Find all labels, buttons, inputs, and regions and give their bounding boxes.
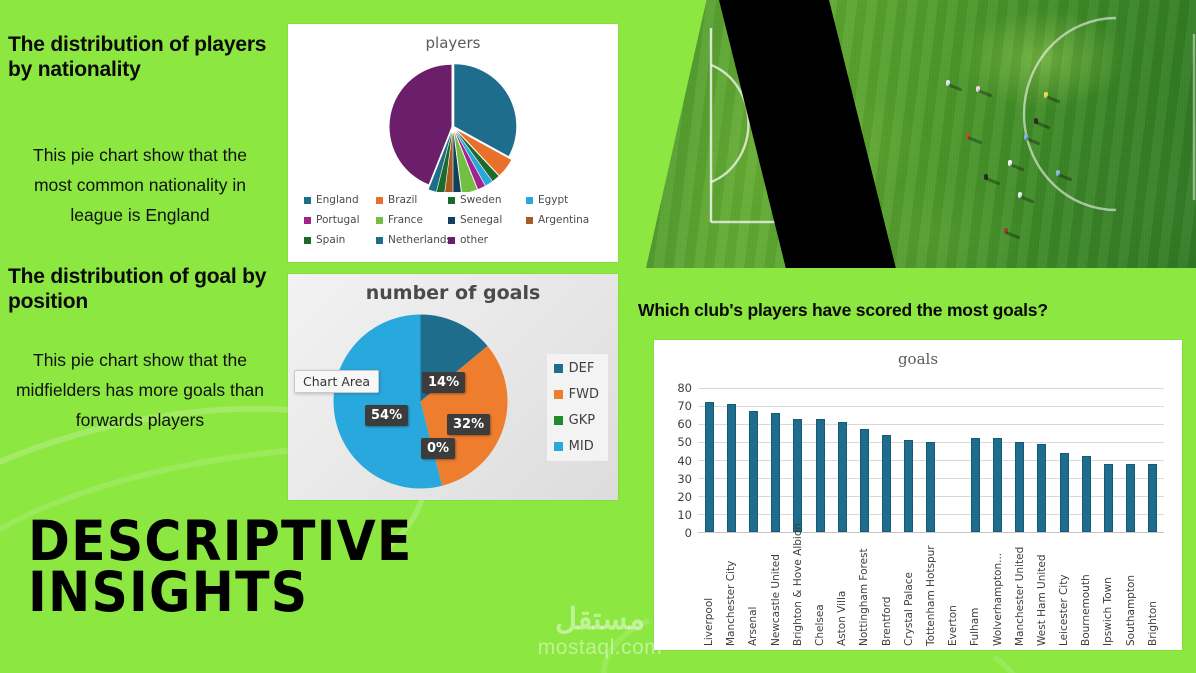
x-label-column: Nottingham Forest: [853, 536, 875, 646]
bar-column[interactable]: [942, 388, 964, 532]
x-axis-tick-label: Arsenal: [747, 536, 759, 646]
bar-column[interactable]: [986, 388, 1008, 532]
y-axis-tick-label: 40: [677, 454, 692, 468]
bar-chart-title: goals: [654, 350, 1182, 368]
bar-column[interactable]: [920, 388, 942, 532]
x-axis-tick-label: Manchester City: [725, 536, 737, 646]
bar-column[interactable]: [853, 388, 875, 532]
x-axis-tick-label: Brighton & Hove Albion: [792, 536, 804, 646]
bar: [971, 438, 980, 532]
x-label-column: Manchester United: [1009, 536, 1031, 646]
pie-chart-players: players EnglandBrazilSwedenEgyptPortugal…: [288, 24, 618, 262]
bar-column[interactable]: [720, 388, 742, 532]
x-label-column: Arsenal: [742, 536, 764, 646]
legend-swatch-icon: [304, 217, 311, 224]
pie1-legend-item[interactable]: Argentina: [526, 214, 604, 226]
x-label-column: Manchester City: [720, 536, 742, 646]
bar-column[interactable]: [698, 388, 720, 532]
x-axis-tick-label: Aston Villa: [836, 536, 848, 646]
pie1-legend-item[interactable]: Egypt: [526, 194, 604, 206]
bar: [838, 422, 847, 532]
legend-swatch-icon: [304, 237, 311, 244]
pie2-graphic: [333, 314, 508, 489]
bar-column[interactable]: [831, 388, 853, 532]
headline-line-2: INSIGHTS: [28, 567, 640, 618]
y-axis-tick-label: 30: [677, 472, 692, 486]
legend-swatch-icon: [526, 197, 533, 204]
x-axis-tick-label: Wolverhampton...: [992, 536, 1004, 646]
legend-swatch-icon: [554, 442, 563, 451]
bar: [1082, 456, 1091, 532]
bar: [727, 404, 736, 532]
x-axis-tick-label: Liverpool: [703, 536, 715, 646]
x-axis-tick-label: Brighton: [1147, 536, 1159, 646]
bar-column[interactable]: [765, 388, 787, 532]
y-axis-tick-label: 0: [685, 526, 692, 540]
pie2-legend-item[interactable]: DEF: [554, 361, 599, 376]
pie1-legend-item[interactable]: other: [448, 234, 526, 246]
x-axis-tick-label: Leicester City: [1058, 536, 1070, 646]
legend-swatch-icon: [304, 197, 311, 204]
pie1-legend-label: Brazil: [388, 194, 417, 206]
x-label-column: Ipswich Town: [1097, 536, 1119, 646]
x-label-column: Brighton: [1142, 536, 1164, 646]
bar: [1148, 464, 1157, 532]
x-axis-tick-label: Everton: [947, 536, 959, 646]
y-axis-tick-label: 20: [677, 490, 692, 504]
bar: [860, 429, 869, 532]
bar: [882, 435, 891, 532]
x-label-column: Southampton: [1120, 536, 1142, 646]
x-label-column: Aston Villa: [831, 536, 853, 646]
pie1-legend-label: England: [316, 194, 359, 206]
bar-column[interactable]: [876, 388, 898, 532]
legend-swatch-icon: [376, 217, 383, 224]
bar: [1037, 444, 1046, 532]
chart-area-tooltip: Chart Area: [294, 370, 379, 393]
pie-chart-goals-position: number of goals 14% 32% 0% 54% Chart Are…: [288, 274, 618, 500]
pie1-legend-label: France: [388, 214, 423, 226]
x-label-column: Bournemouth: [1075, 536, 1097, 646]
bar: [705, 402, 714, 532]
pie2-legend-label: DEF: [569, 361, 595, 376]
section-title-nationality: The distribution of players by nationali…: [8, 33, 276, 82]
pie2-legend: DEFFWDGKPMID: [547, 354, 608, 461]
section-body-nationality: This pie chart show that the most common…: [14, 140, 266, 230]
bar-column[interactable]: [1075, 388, 1097, 532]
bar: [904, 440, 913, 532]
pie1-legend-item[interactable]: Senegal: [448, 214, 526, 226]
x-label-column: Wolverhampton...: [986, 536, 1008, 646]
y-axis-tick-label: 10: [677, 508, 692, 522]
pie2-label-fwd: 32%: [447, 414, 490, 435]
pie1-legend-label: Senegal: [460, 214, 502, 226]
legend-swatch-icon: [448, 217, 455, 224]
x-label-column: West Ham United: [1031, 536, 1053, 646]
bar: [771, 413, 780, 532]
bar: [793, 419, 802, 532]
pie2-legend-item[interactable]: FWD: [554, 387, 599, 402]
bar-column[interactable]: [1142, 388, 1164, 532]
pie1-legend-label: Spain: [316, 234, 345, 246]
bar: [1126, 464, 1135, 532]
x-label-column: Brighton & Hove Albion: [787, 536, 809, 646]
bar-column[interactable]: [742, 388, 764, 532]
pie2-legend-label: GKP: [569, 413, 595, 428]
bar: [993, 438, 1002, 532]
bar-column[interactable]: [1097, 388, 1119, 532]
pie1-legend-item[interactable]: Sweden: [448, 194, 526, 206]
x-axis-tick-label: Chelsea: [814, 536, 826, 646]
x-label-column: Newcastle United: [765, 536, 787, 646]
pie2-title: number of goals: [288, 282, 618, 304]
bar-column[interactable]: [1031, 388, 1053, 532]
bar-chart-question: Which club's players have scored the mos…: [638, 300, 1194, 321]
pie2-label-gkp: 0%: [421, 438, 455, 459]
bar-column[interactable]: [898, 388, 920, 532]
pie1-legend-label: other: [460, 234, 488, 246]
x-label-column: Fulham: [964, 536, 986, 646]
y-axis-tick-label: 80: [677, 381, 692, 395]
bar-column[interactable]: [1120, 388, 1142, 532]
pie2-legend-item[interactable]: GKP: [554, 413, 599, 428]
y-axis-tick-label: 70: [677, 399, 692, 413]
x-axis-tick-label: Nottingham Forest: [858, 536, 870, 646]
x-axis-tick-label: Ipswich Town: [1102, 536, 1114, 646]
x-axis-tick-label: Newcastle United: [770, 536, 782, 646]
pie1-legend-label: Argentina: [538, 214, 589, 226]
pie1-graphic: [360, 62, 546, 192]
bar-column[interactable]: [809, 388, 831, 532]
legend-swatch-icon: [448, 237, 455, 244]
bar-column[interactable]: [787, 388, 809, 532]
pie2-legend-item[interactable]: MID: [554, 439, 599, 454]
legend-swatch-icon: [376, 237, 383, 244]
x-axis-tick-label: Tottenham Hotspur: [925, 536, 937, 646]
pitch-photo: [646, 0, 1196, 268]
pie1-legend-item[interactable]: Spain: [304, 234, 376, 246]
x-axis-tick-label: Southampton: [1125, 536, 1137, 646]
pie2-legend-label: FWD: [569, 387, 599, 402]
bar-x-axis: [698, 532, 1164, 533]
legend-swatch-icon: [554, 390, 563, 399]
x-label-column: Chelsea: [809, 536, 831, 646]
bar: [816, 419, 825, 532]
bar: [1104, 464, 1113, 532]
x-axis-tick-label: Crystal Palace: [903, 536, 915, 646]
x-label-column: Brentford: [876, 536, 898, 646]
slide-headline: DESCRIPTIVE INSIGHTS: [28, 516, 640, 618]
legend-swatch-icon: [554, 416, 563, 425]
legend-swatch-icon: [376, 197, 383, 204]
pie1-legend-item[interactable]: Netherlands: [376, 234, 448, 246]
x-axis-tick-label: Manchester United: [1014, 536, 1026, 646]
y-axis-tick-label: 50: [677, 435, 692, 449]
pie1-legend-label: Egypt: [538, 194, 568, 206]
pie1-legend: EnglandBrazilSwedenEgyptPortugalFranceSe…: [304, 194, 604, 254]
section-title-position: The distribution of goal by position: [8, 265, 276, 314]
x-axis-tick-label: Brentford: [881, 536, 893, 646]
bar: [926, 442, 935, 532]
pie1-legend-item[interactable]: England: [304, 194, 376, 206]
x-label-column: Crystal Palace: [898, 536, 920, 646]
x-label-column: Leicester City: [1053, 536, 1075, 646]
x-axis-tick-label: Fulham: [969, 536, 981, 646]
y-axis-tick-label: 60: [677, 417, 692, 431]
bar-column[interactable]: [964, 388, 986, 532]
bar: [749, 411, 758, 532]
pie2-label-def: 14%: [422, 372, 465, 393]
x-label-column: Tottenham Hotspur: [920, 536, 942, 646]
x-axis-tick-label: West Ham United: [1036, 536, 1048, 646]
x-axis-tick-label: Bournemouth: [1080, 536, 1092, 646]
pie1-legend-label: Netherlands: [388, 234, 452, 246]
bar: [1060, 453, 1069, 532]
bar-column[interactable]: [1053, 388, 1075, 532]
pie1-legend-item[interactable]: Portugal: [304, 214, 376, 226]
bar: [1015, 442, 1024, 532]
bar-plot-area: 01020304050607080: [698, 388, 1164, 532]
legend-swatch-icon: [554, 364, 563, 373]
pie1-legend-label: Portugal: [316, 214, 360, 226]
pie1-legend-item[interactable]: France: [376, 214, 448, 226]
bar-x-labels: LiverpoolManchester CityArsenalNewcastle…: [698, 536, 1164, 646]
pie1-legend-label: Sweden: [460, 194, 502, 206]
slide-canvas: The distribution of players by nationali…: [0, 0, 1196, 673]
pie1-legend-item[interactable]: Brazil: [376, 194, 448, 206]
x-label-column: Liverpool: [698, 536, 720, 646]
legend-swatch-icon: [448, 197, 455, 204]
section-body-position: This pie chart show that the midfielders…: [14, 345, 266, 435]
pie2-legend-label: MID: [569, 439, 594, 454]
pie1-title: players: [288, 34, 618, 52]
bar-column[interactable]: [1009, 388, 1031, 532]
legend-swatch-icon: [526, 217, 533, 224]
bar-chart-goals-by-club: goals 01020304050607080 LiverpoolManches…: [654, 340, 1182, 650]
x-label-column: Everton: [942, 536, 964, 646]
pie2-label-mid: 54%: [365, 405, 408, 426]
